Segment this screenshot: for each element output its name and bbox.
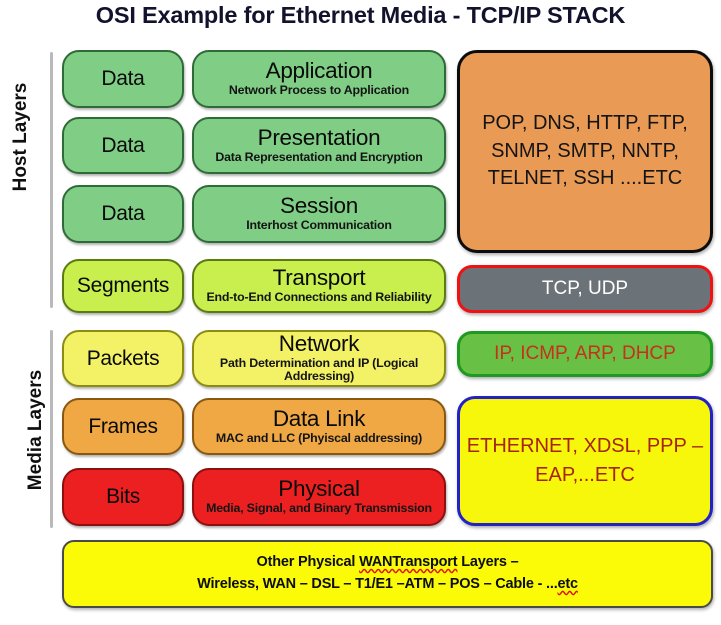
pdu-application: Data: [62, 50, 184, 108]
protocols-network-box: IP, ICMP, ARP, DHCP: [457, 331, 713, 377]
layer-session-desc: Interhost Communication: [246, 219, 391, 233]
layer-presentation-desc: Data Representation and Encryption: [215, 151, 422, 165]
protocols-network-text: IP, ICMP, ARP, DHCP: [494, 343, 676, 365]
banner-line-2: Wireless, WAN – DSL – T1/E1 –ATM – POS –…: [197, 574, 578, 596]
protocols-application-text: POP, DNS, HTTP, FTP, SNMP, SMTP, NNTP, T…: [460, 110, 710, 193]
diagram-title: OSI Example for Ethernet Media - TCP/IP …: [0, 2, 721, 29]
protocols-application-box: POP, DNS, HTTP, FTP, SNMP, SMTP, NNTP, T…: [457, 50, 713, 253]
pdu-physical: Bits: [62, 468, 184, 526]
protocols-transport-box: TCP, UDP: [457, 265, 713, 313]
layer-presentation-name: Presentation: [258, 127, 381, 150]
pdu-network: Packets: [62, 330, 184, 387]
protocols-media-box: ETHERNET, XDSL, PPP – EAP,...ETC: [457, 396, 713, 526]
pdu-transport: Segments: [62, 259, 184, 313]
pdu-presentation: Data: [62, 117, 184, 174]
host-layers-label: Host Layers: [10, 77, 32, 197]
layer-data-link-desc: MAC and LLC (Phyiscal addressing): [216, 432, 422, 446]
banner-line-2a: Wireless, WAN – DSL – T1/E1 –ATM – POS –…: [197, 576, 557, 592]
pdu-session: Data: [62, 185, 184, 243]
layer-network-desc: Path Determination and IP (Logical Addre…: [198, 357, 440, 385]
layer-physical-desc: Media, Signal, and Binary Transmission: [206, 502, 432, 516]
pdu-data-link: Frames: [62, 398, 184, 455]
layer-network: Network Path Determination and IP (Logic…: [192, 330, 446, 387]
layer-application: Application Network Process to Applicati…: [192, 50, 446, 108]
layer-transport: Transport End-to-End Connections and Rel…: [192, 259, 446, 313]
media-layers-bracket: [50, 330, 53, 528]
layer-application-name: Application: [266, 60, 373, 83]
protocols-transport-text: TCP, UDP: [542, 278, 628, 300]
layer-network-name: Network: [279, 333, 359, 356]
other-transport-banner: Other Physical WANTransport Layers – Wir…: [62, 540, 713, 608]
host-layers-bracket: [50, 52, 53, 308]
layer-data-link-name: Data Link: [273, 408, 365, 431]
media-layers-label: Media Layers: [25, 360, 47, 500]
banner-line-1a: Other Physical: [257, 554, 360, 570]
banner-line-2b: etc: [558, 576, 578, 592]
layer-transport-name: Transport: [273, 267, 366, 290]
banner-line-1b: WANTransport: [359, 554, 457, 570]
layer-data-link: Data Link MAC and LLC (Phyiscal addressi…: [192, 398, 446, 455]
layer-transport-desc: End-to-End Connections and Reliability: [206, 291, 431, 305]
layer-physical: Physical Media, Signal, and Binary Trans…: [192, 468, 446, 526]
layer-presentation: Presentation Data Representation and Enc…: [192, 117, 446, 174]
protocols-media-text: ETHERNET, XDSL, PPP – EAP,...ETC: [460, 432, 710, 490]
layer-session: Session Interhost Communication: [192, 185, 446, 243]
layer-physical-name: Physical: [278, 478, 359, 501]
osi-model-diagram: OSI Example for Ethernet Media - TCP/IP …: [0, 0, 721, 625]
layer-session-name: Session: [280, 195, 358, 218]
banner-line-1: Other Physical WANTransport Layers –: [257, 552, 519, 574]
banner-line-1c: Layers –: [457, 554, 518, 570]
layer-application-desc: Network Process to Application: [229, 84, 409, 98]
